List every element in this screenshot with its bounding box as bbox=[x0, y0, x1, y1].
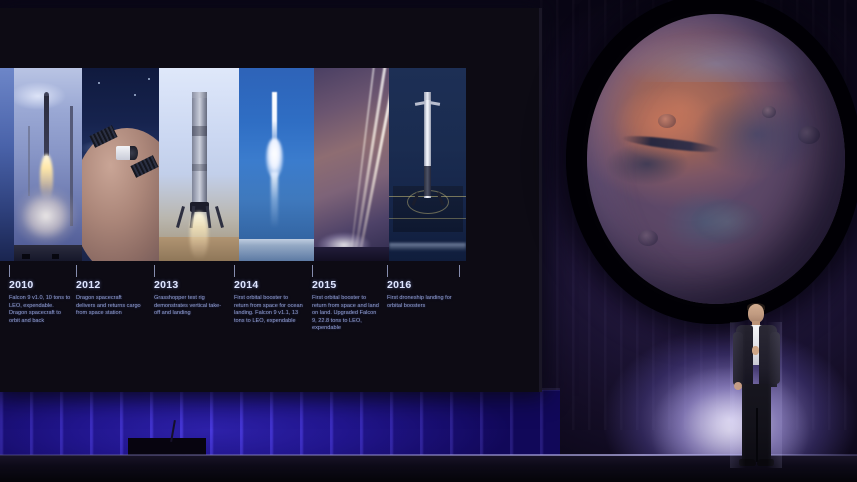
booster-silhouette bbox=[272, 92, 277, 144]
booster-engine-section bbox=[424, 166, 431, 196]
timeline-tick bbox=[76, 265, 77, 277]
timeline-caption-text: Grasshopper test rig demonstrates vertic… bbox=[154, 295, 224, 318]
speaker-rim-light bbox=[730, 322, 782, 468]
stage-scene: 2010 Falcon 9 v1.0, 10 tons to LEO, expe… bbox=[0, 0, 857, 482]
timeline-caption-text: First orbital booster to return from spa… bbox=[234, 295, 304, 325]
timeline-captions: 2010 Falcon 9 v1.0, 10 tons to LEO, expe… bbox=[0, 280, 466, 343]
pad-structure-a bbox=[22, 254, 30, 259]
ocean-surface bbox=[239, 239, 314, 261]
timeline-year-label: 2014 bbox=[234, 280, 304, 291]
timeline-tick-row bbox=[0, 265, 466, 277]
grasshopper-band bbox=[192, 126, 207, 136]
display-bezel-ring bbox=[566, 0, 857, 324]
timeline-entry-2015: 2015 First orbital booster to return fro… bbox=[312, 280, 380, 333]
panel-sky-sliver bbox=[0, 68, 14, 261]
grasshopper-engine-flame bbox=[190, 212, 208, 260]
panel-grasshopper bbox=[159, 68, 239, 261]
timeline-caption-text: Falcon 9 v1.0, 10 tons to LEO, expendabl… bbox=[9, 295, 71, 325]
grasshopper-body bbox=[192, 98, 207, 208]
deck-stripe-lower bbox=[389, 218, 466, 219]
timeline-caption-text: First orbital booster to return from spa… bbox=[312, 295, 380, 333]
pad-structure-b bbox=[52, 254, 59, 259]
retro-burn-glow bbox=[266, 138, 283, 178]
timeline-year-label: 2012 bbox=[76, 280, 142, 291]
timeline-tick bbox=[387, 265, 388, 277]
projection-screen: 2010 Falcon 9 v1.0, 10 tons to LEO, expe… bbox=[0, 8, 542, 392]
dragon-capsule-body bbox=[116, 146, 131, 160]
wall-fold-texture bbox=[0, 390, 560, 458]
timeline-entry-2012: 2012 Dragon spacecraft delivers and retu… bbox=[76, 280, 142, 318]
circular-display bbox=[566, 0, 857, 324]
exhaust-plume bbox=[16, 180, 80, 250]
timeline-year-label: 2016 bbox=[387, 280, 453, 291]
rocket-body bbox=[44, 96, 49, 156]
landing-zone-ground bbox=[314, 247, 389, 261]
grasshopper-band-lower bbox=[192, 164, 207, 171]
timeline-entry-2010: 2010 Falcon 9 v1.0, 10 tons to LEO, expe… bbox=[9, 280, 71, 325]
panel-droneship bbox=[389, 68, 466, 261]
timeline-caption-text: Dragon spacecraft delivers and returns c… bbox=[76, 295, 142, 318]
panel-falcon9-launch bbox=[14, 68, 82, 261]
star bbox=[148, 78, 150, 80]
timeline-tick bbox=[154, 265, 155, 277]
sea-wake bbox=[389, 243, 466, 251]
panel-dragon-orbit bbox=[82, 68, 159, 261]
star bbox=[134, 94, 136, 96]
timeline-year-label: 2013 bbox=[154, 280, 224, 291]
descent-trail bbox=[271, 172, 278, 228]
speaker bbox=[726, 304, 786, 472]
timeline-tick bbox=[312, 265, 313, 277]
timeline-tick bbox=[234, 265, 235, 277]
star bbox=[98, 82, 100, 84]
dragon-capsule-heatshield bbox=[130, 146, 138, 160]
timeline-entry-2013: 2013 Grasshopper test rig demonstrates v… bbox=[154, 280, 224, 318]
panel-landing-streaks bbox=[314, 68, 389, 261]
panel-ocean-landing bbox=[239, 68, 314, 261]
timeline-slide: 2010 Falcon 9 v1.0, 10 tons to LEO, expe… bbox=[0, 68, 466, 343]
timeline-year-label: 2010 bbox=[9, 280, 71, 291]
blue-uplit-wall bbox=[0, 390, 560, 458]
screen-bezel-right bbox=[539, 8, 542, 392]
timeline-year-label: 2015 bbox=[312, 280, 380, 291]
timeline-entry-2014: 2014 First orbital booster to return fro… bbox=[234, 280, 304, 325]
timeline-tick bbox=[459, 265, 460, 277]
timeline-caption-text: First droneship landing for orbital boos… bbox=[387, 295, 453, 310]
timeline-entry-2016: 2016 First droneship landing for orbital… bbox=[387, 280, 453, 310]
timeline-image-strip bbox=[0, 68, 466, 261]
timeline-tick bbox=[9, 265, 10, 277]
